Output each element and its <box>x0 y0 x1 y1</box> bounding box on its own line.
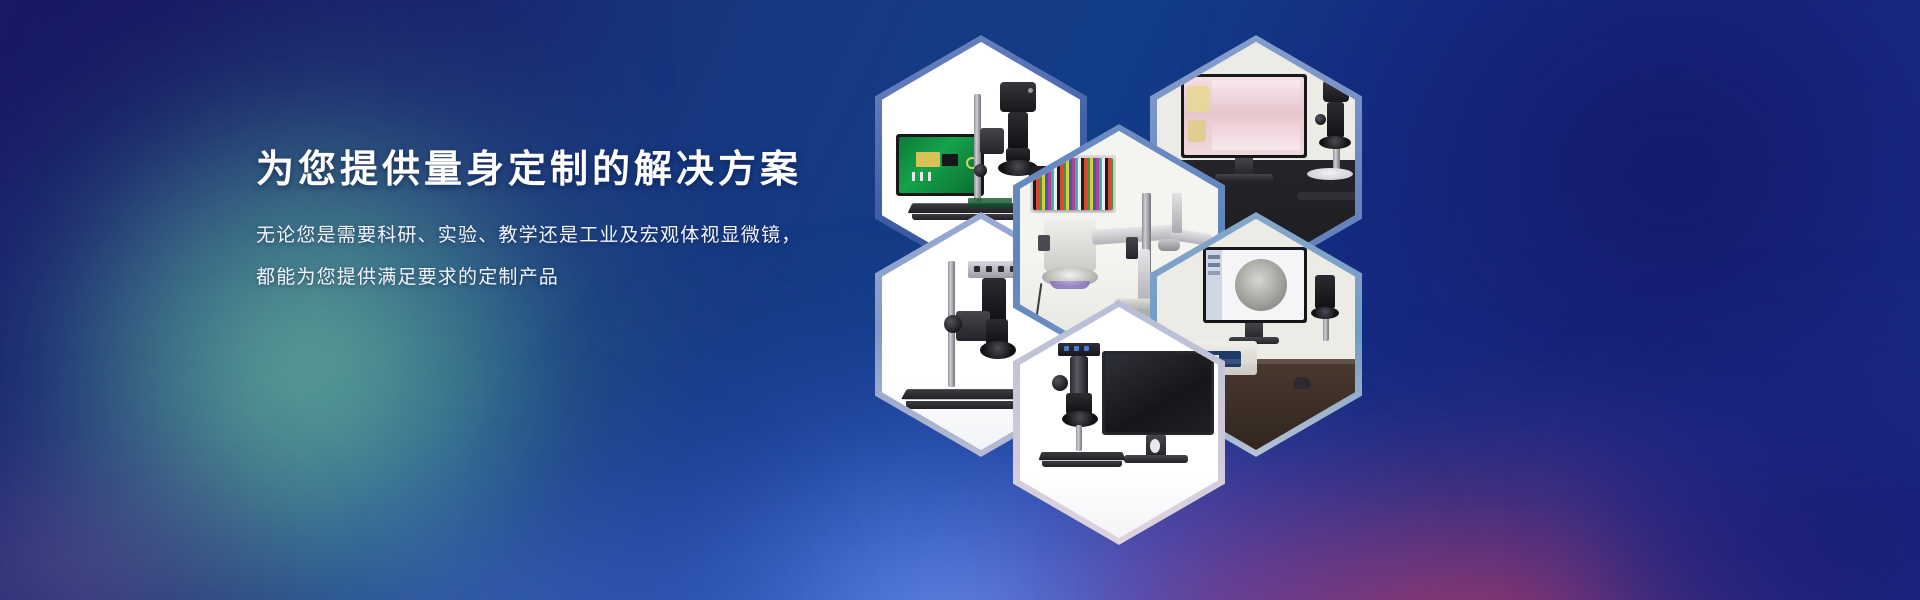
hexagon-product-collage <box>830 0 1390 600</box>
marketing-banner: 为您提供量身定制的解决方案 无论您是需要科研、实验、教学还是工业及宏观体视显微镜… <box>0 0 1920 600</box>
banner-subtitle-line-1: 无论您是需要科研、实验、教学还是工业及宏观体视显微镜， <box>256 226 956 245</box>
banner-copy-block: 为您提供量身定制的解决方案 无论您是需要科研、实验、教学还是工业及宏观体视显微镜… <box>256 150 956 287</box>
banner-headline: 为您提供量身定制的解决方案 <box>256 150 956 192</box>
banner-subtitle-line-2: 都能为您提供满足要求的定制产品 <box>256 268 956 287</box>
